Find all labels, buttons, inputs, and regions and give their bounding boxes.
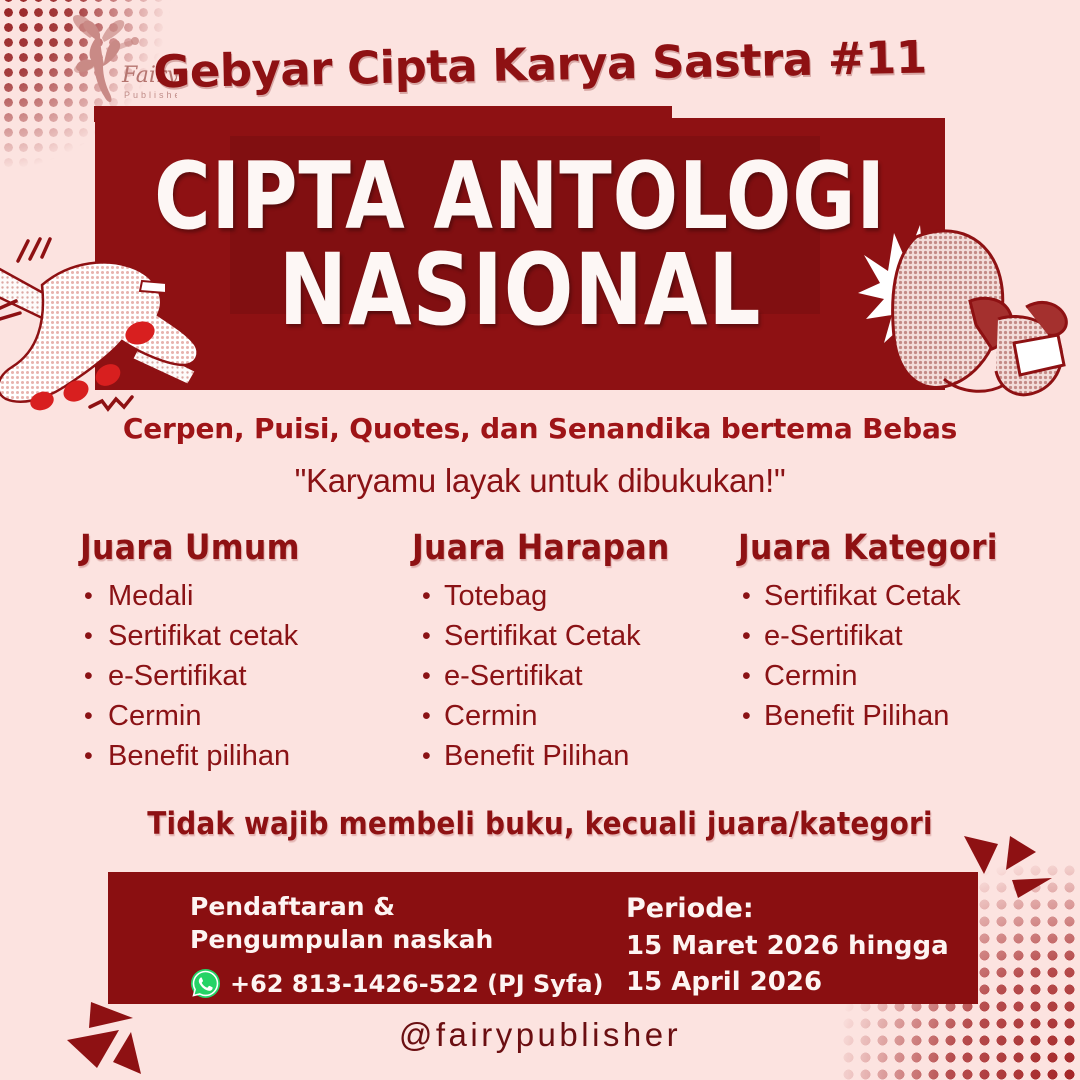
registration-info: Pendaftaran & Pengumpulan naskah +62 813… — [190, 890, 604, 999]
social-handle[interactable]: @fairypublisher — [0, 1016, 1080, 1054]
whatsapp-icon[interactable] — [190, 968, 221, 999]
prize-column-juara-umum: Juara Umum Medali Sertifikat cetak e-Ser… — [80, 528, 390, 776]
prize-item: Sertifikat Cetak — [738, 576, 1058, 616]
prize-item: Benefit Pilihan — [738, 696, 1058, 736]
prize-column-juara-kategori: Juara Kategori Sertifikat Cetak e-Sertif… — [738, 528, 1058, 736]
registration-heading-line-2: Pengumpulan naskah — [190, 923, 604, 956]
prize-item: Benefit pilihan — [80, 736, 390, 776]
prize-item: Cermin — [80, 696, 390, 736]
prize-columns: Juara Umum Medali Sertifikat cetak e-Ser… — [0, 528, 1080, 793]
prize-column-title: Juara Kategori — [738, 528, 1058, 568]
prize-column-juara-harapan: Juara Harapan Totebag Sertifikat Cetak e… — [412, 528, 722, 776]
prize-item: Medali — [80, 576, 390, 616]
purchase-note-text: Tidak wajib membeli buku, kecuali juara/… — [147, 806, 933, 842]
purchase-note: Tidak wajib membeli buku, kecuali juara/… — [0, 806, 1080, 842]
period-label: Periode: — [626, 890, 949, 928]
prize-item: Cermin — [738, 656, 1058, 696]
event-title-text: Gebyar Cipta Karya Sastra #11 — [153, 31, 927, 99]
period-info: Periode: 15 Maret 2026 hingga 15 April 2… — [626, 890, 949, 1000]
prize-item: e-Sertifikat — [738, 616, 1058, 656]
registration-heading-line-1: Pendaftaran & — [190, 890, 604, 923]
megaphone-illustration — [858, 215, 1080, 410]
social-handle-text[interactable]: @fairypublisher — [399, 1016, 681, 1053]
prize-list: Sertifikat Cetak e-Sertifikat Cermin Ben… — [738, 576, 1058, 736]
prize-list: Totebag Sertifikat Cetak e-Sertifikat Ce… — [418, 576, 722, 776]
contact-bar: Pendaftaran & Pengumpulan naskah +62 813… — [108, 872, 978, 1004]
poster-canvas: Fairy Publisher Gebyar Cipta Karya Sastr… — [0, 0, 1080, 1080]
main-title-line-2: NASIONAL — [129, 240, 911, 342]
subtitle-text: Cerpen, Puisi, Quotes, dan Senandika ber… — [123, 412, 957, 445]
prize-column-title: Juara Umum — [80, 528, 390, 568]
prize-list: Medali Sertifikat cetak e-Sertifikat Cer… — [80, 576, 390, 776]
prize-item: Benefit Pilihan — [418, 736, 722, 776]
prize-item: Totebag — [418, 576, 722, 616]
period-line-1: 15 Maret 2026 hingga — [626, 928, 949, 964]
prize-column-title: Juara Harapan — [412, 528, 722, 568]
banner-notch-decoration — [94, 106, 672, 122]
prize-item: Sertifikat Cetak — [418, 616, 722, 656]
tagline: "Karyamu layak untuk dibukukan!" — [0, 462, 1080, 500]
prize-item: e-Sertifikat — [418, 656, 722, 696]
subtitle: Cerpen, Puisi, Quotes, dan Senandika ber… — [0, 412, 1080, 445]
whatsapp-contact-row[interactable]: +62 813-1426-522 (PJ Syfa) — [190, 968, 604, 999]
hand-with-pen-illustration — [0, 225, 225, 425]
period-line-2: 15 April 2026 — [626, 964, 949, 1000]
main-title-line-1: CIPTA ANTOLOGI — [129, 148, 911, 244]
prize-item: e-Sertifikat — [80, 656, 390, 696]
whatsapp-phone-number[interactable]: +62 813-1426-522 (PJ Syfa) — [230, 970, 604, 998]
tagline-text: "Karyamu layak untuk dibukukan!" — [295, 462, 786, 499]
prize-item: Cermin — [418, 696, 722, 736]
prize-item: Sertifikat cetak — [80, 616, 390, 656]
